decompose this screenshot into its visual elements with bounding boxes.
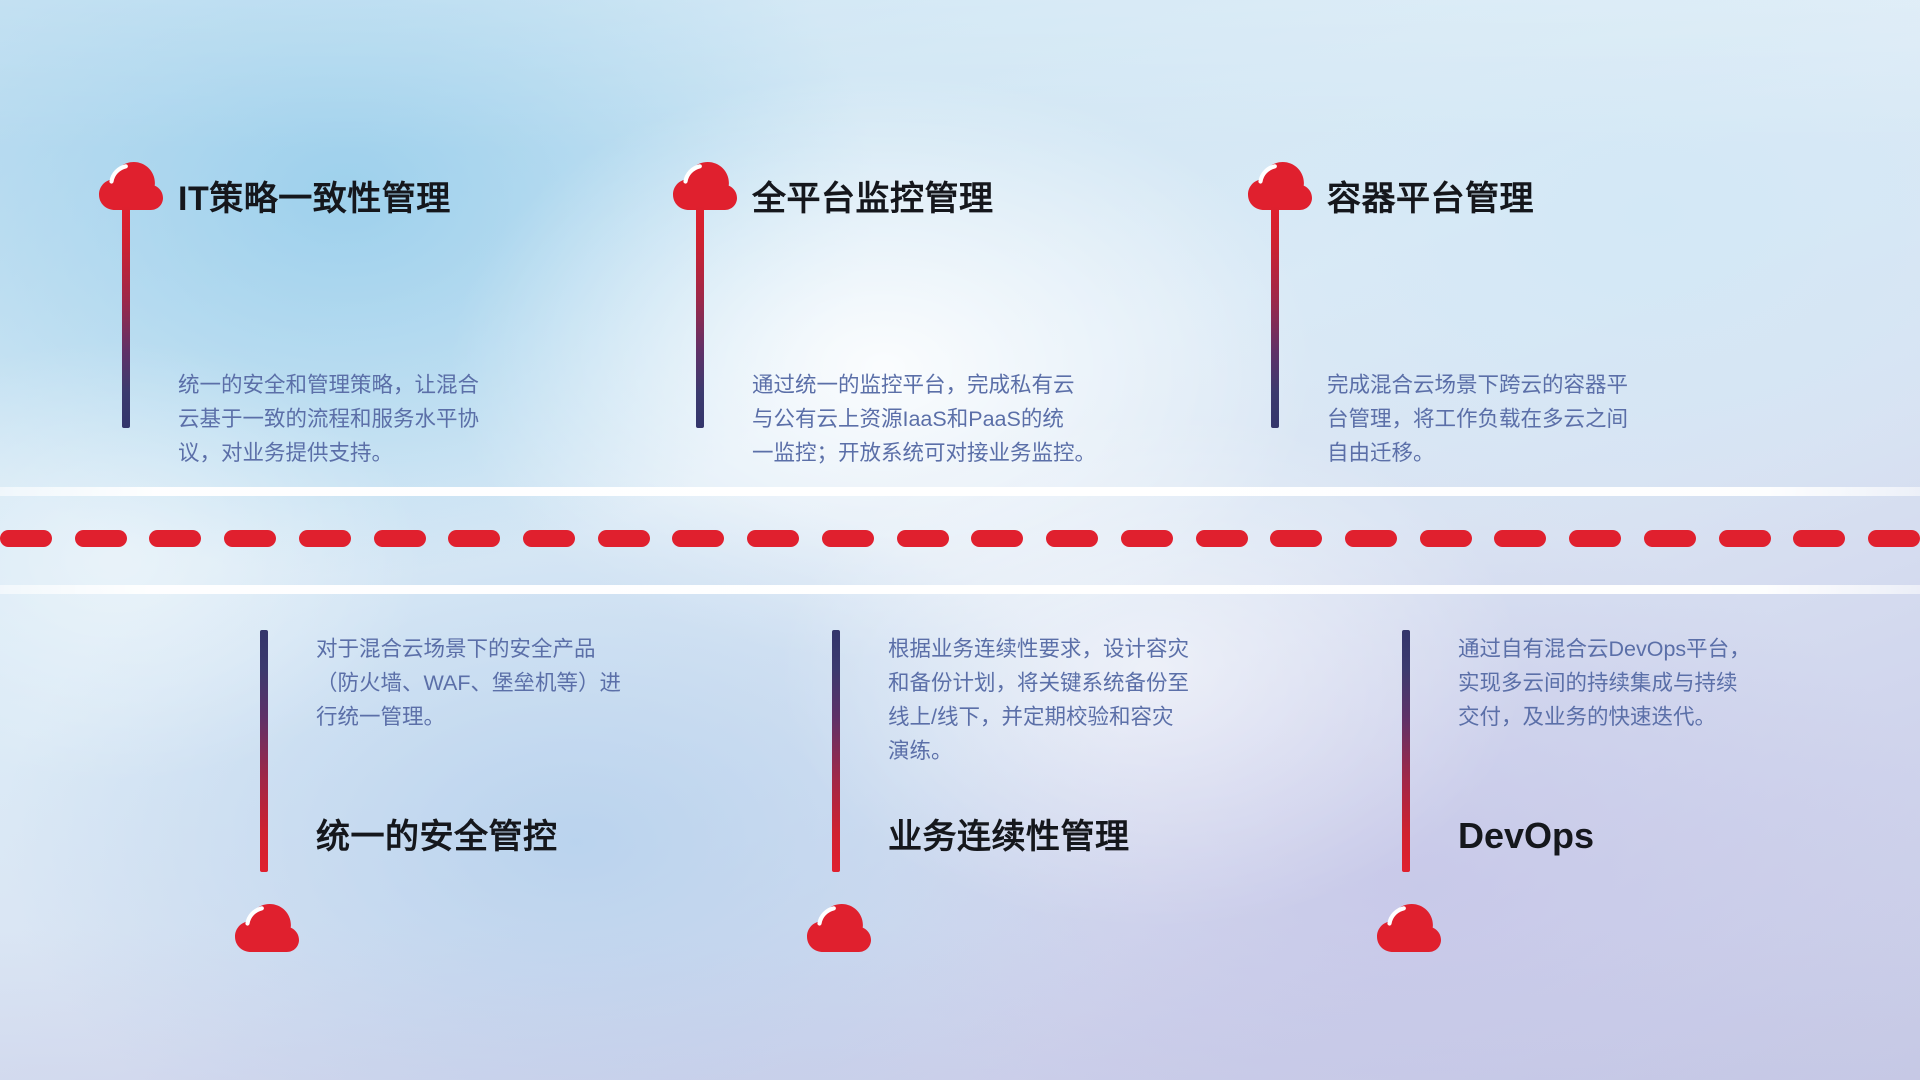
connector-line [1271, 206, 1279, 428]
road-dash [672, 530, 724, 547]
cloud-icon [806, 902, 872, 954]
card-heading: 全平台监控管理 [752, 182, 994, 216]
road-edge-top [0, 487, 1920, 496]
road-dash [971, 530, 1023, 547]
card-heading: IT策略一致性管理 [178, 182, 451, 216]
road-dash [448, 530, 500, 547]
road-dash [1345, 530, 1397, 547]
card-heading: 容器平台管理 [1327, 182, 1534, 216]
road-dash [1121, 530, 1173, 547]
connector-line [122, 206, 130, 428]
road-dash [0, 530, 52, 547]
road-dash [1868, 530, 1920, 547]
road-dash [1196, 530, 1248, 547]
road-dash [1793, 530, 1845, 547]
card-body-text: 通过统一的监控平台，完成私有云 与公有云上资源IaaS和PaaS的统 一监控；开… [752, 368, 1212, 470]
road-dash [1420, 530, 1472, 547]
connector-line [696, 206, 704, 428]
road-dash [747, 530, 799, 547]
road-dash [1270, 530, 1322, 547]
road-dashes [0, 529, 1920, 547]
road-dash [75, 530, 127, 547]
connector-line [260, 630, 268, 872]
card-body-text: 完成混合云场景下跨云的容器平 台管理，将工作负载在多云之间 自由迁移。 [1327, 368, 1767, 470]
card-heading: DevOps [1458, 818, 1594, 854]
road-dash [598, 530, 650, 547]
card-body-text: 统一的安全和管理策略，让混合 云基于一致的流程和服务水平协 议，对业务提供支持。 [178, 368, 618, 470]
connector-line [832, 630, 840, 872]
card-heading: 业务连续性管理 [888, 820, 1130, 854]
road-dash [1494, 530, 1546, 547]
cloud-icon [98, 160, 164, 212]
road-edge-bottom [0, 585, 1920, 594]
cloud-icon [234, 902, 300, 954]
road-dash [374, 530, 426, 547]
cloud-icon [1376, 902, 1442, 954]
road-dash [299, 530, 351, 547]
cloud-icon [672, 160, 738, 212]
road-dash [1644, 530, 1696, 547]
card-body-text: 对于混合云场景下的安全产品 （防火墙、WAF、堡垒机等）进 行统一管理。 [316, 632, 756, 734]
card-body-text: 根据业务连续性要求，设计容灾 和备份计划，将关键系统备份至 线上/线下，并定期校… [888, 632, 1328, 768]
connector-line [1402, 630, 1410, 872]
road-dash [149, 530, 201, 547]
cloud-icon [1247, 160, 1313, 212]
road-dash [1719, 530, 1771, 547]
road-dash [897, 530, 949, 547]
road-dash [224, 530, 276, 547]
road-dash [1046, 530, 1098, 547]
road-dash [523, 530, 575, 547]
infographic-stage: IT策略一致性管理 统一的安全和管理策略，让混合 云基于一致的流程和服务水平协 … [0, 0, 1920, 1080]
card-heading: 统一的安全管控 [316, 820, 558, 854]
card-body-text: 通过自有混合云DevOps平台， 实现多云间的持续集成与持续 交付，及业务的快速… [1458, 632, 1898, 734]
road-dash [822, 530, 874, 547]
road-dash [1569, 530, 1621, 547]
